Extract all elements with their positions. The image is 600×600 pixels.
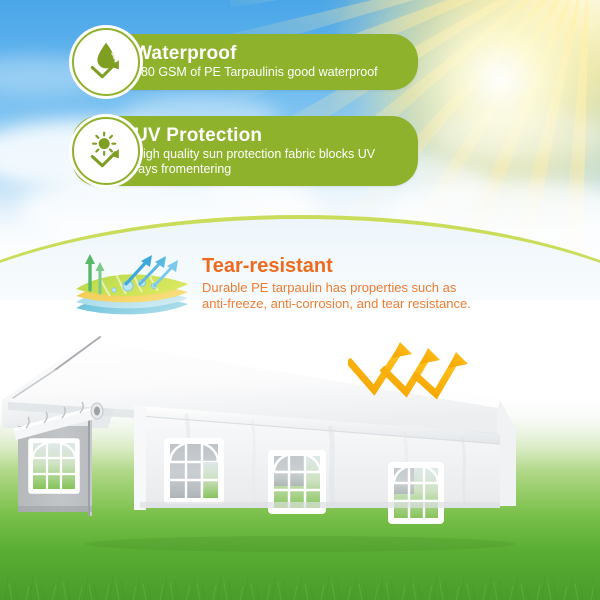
tear-resistant-block: Tear-resistant Durable PE tarpaulin has … [202, 254, 502, 311]
layered-fabric-icon [70, 246, 198, 318]
uv-reflection-arrows [348, 338, 488, 416]
cloud [430, 110, 600, 160]
sun-uv-glyph [84, 129, 128, 173]
feature-desc: High quality sun protection fabric block… [134, 147, 396, 176]
water-drop-glyph [84, 40, 128, 84]
tear-resistant-desc-line1: Durable PE tarpaulin has properties such… [202, 280, 502, 296]
tear-resistant-title: Tear-resistant [202, 254, 502, 278]
sun-uv-icon [72, 117, 140, 185]
feature-title: Waterproof [134, 43, 396, 64]
tent-window [390, 464, 442, 522]
feature-title: UV Protection [134, 125, 396, 146]
water-drop-icon [72, 28, 140, 96]
tear-resistant-desc-line2: anti-freeze, anti-corrosion, and tear re… [202, 296, 502, 312]
white-party-tent [0, 330, 600, 560]
feature-badge-uv-protection[interactable]: UV Protection High quality sun protectio… [72, 116, 418, 186]
product-feature-image: Waterproof 180 GSM of PE Tarpaulinis goo… [0, 0, 600, 600]
feature-badge-waterproof[interactable]: Waterproof 180 GSM of PE Tarpaulinis goo… [72, 34, 418, 90]
tent-window [166, 440, 222, 502]
feature-desc: 180 GSM of PE Tarpaulinis good waterproo… [134, 65, 396, 80]
